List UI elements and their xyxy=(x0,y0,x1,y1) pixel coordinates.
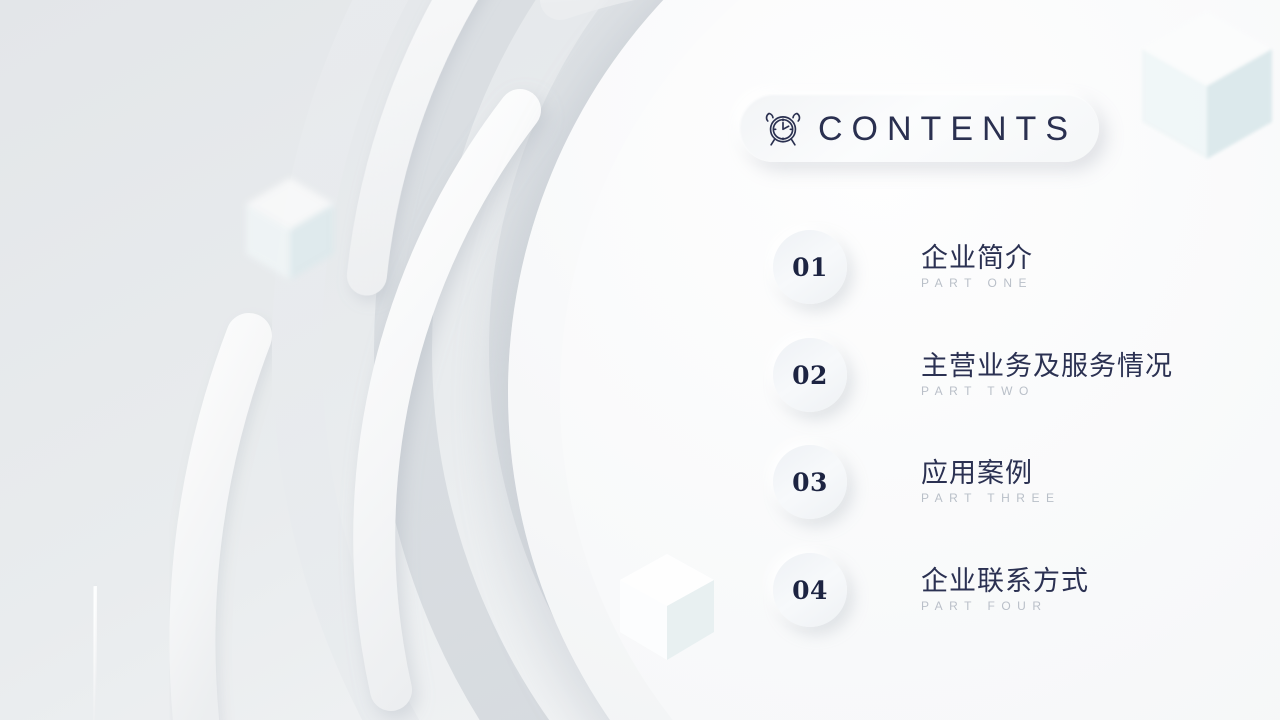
toc-item-01[interactable]: 01 企业简介 PART ONE xyxy=(773,230,1033,304)
toc-badge-01[interactable]: 01 xyxy=(773,230,847,304)
toc-number-04: 04 xyxy=(792,576,828,605)
toc-subtitle-03: PART THREE xyxy=(921,491,1060,505)
toc-title-03: 应用案例 xyxy=(921,459,1060,487)
toc-badge-04[interactable]: 04 xyxy=(773,553,847,627)
toc-badge-03[interactable]: 03 xyxy=(773,445,847,519)
slide-canvas: CONTENTS 01 企业简介 PART ONE 02 主营业务及服务情况 P… xyxy=(0,0,1280,720)
toc-number-01: 01 xyxy=(792,253,828,282)
toc-item-04[interactable]: 04 企业联系方式 PART FOUR xyxy=(773,553,1089,627)
toc-number-03: 03 xyxy=(792,468,828,497)
toc-title-01: 企业简介 xyxy=(921,244,1033,272)
toc-text-02: 主营业务及服务情况 PART TWO xyxy=(921,352,1173,397)
toc-subtitle-02: PART TWO xyxy=(921,384,1173,398)
toc-text-01: 企业简介 PART ONE xyxy=(921,244,1033,289)
toc-text-04: 企业联系方式 PART FOUR xyxy=(921,567,1089,612)
toc-item-03[interactable]: 03 应用案例 PART THREE xyxy=(773,445,1060,519)
toc-number-02: 02 xyxy=(792,361,828,390)
toc-subtitle-04: PART FOUR xyxy=(921,599,1089,613)
toc-subtitle-01: PART ONE xyxy=(921,276,1033,290)
toc-badge-02[interactable]: 02 xyxy=(773,338,847,412)
toc-list: 01 企业简介 PART ONE 02 主营业务及服务情况 PART TWO 0… xyxy=(0,0,1280,720)
toc-title-02: 主营业务及服务情况 xyxy=(921,352,1173,380)
toc-text-03: 应用案例 PART THREE xyxy=(921,459,1060,504)
toc-title-04: 企业联系方式 xyxy=(921,567,1089,595)
toc-item-02[interactable]: 02 主营业务及服务情况 PART TWO xyxy=(773,338,1173,412)
